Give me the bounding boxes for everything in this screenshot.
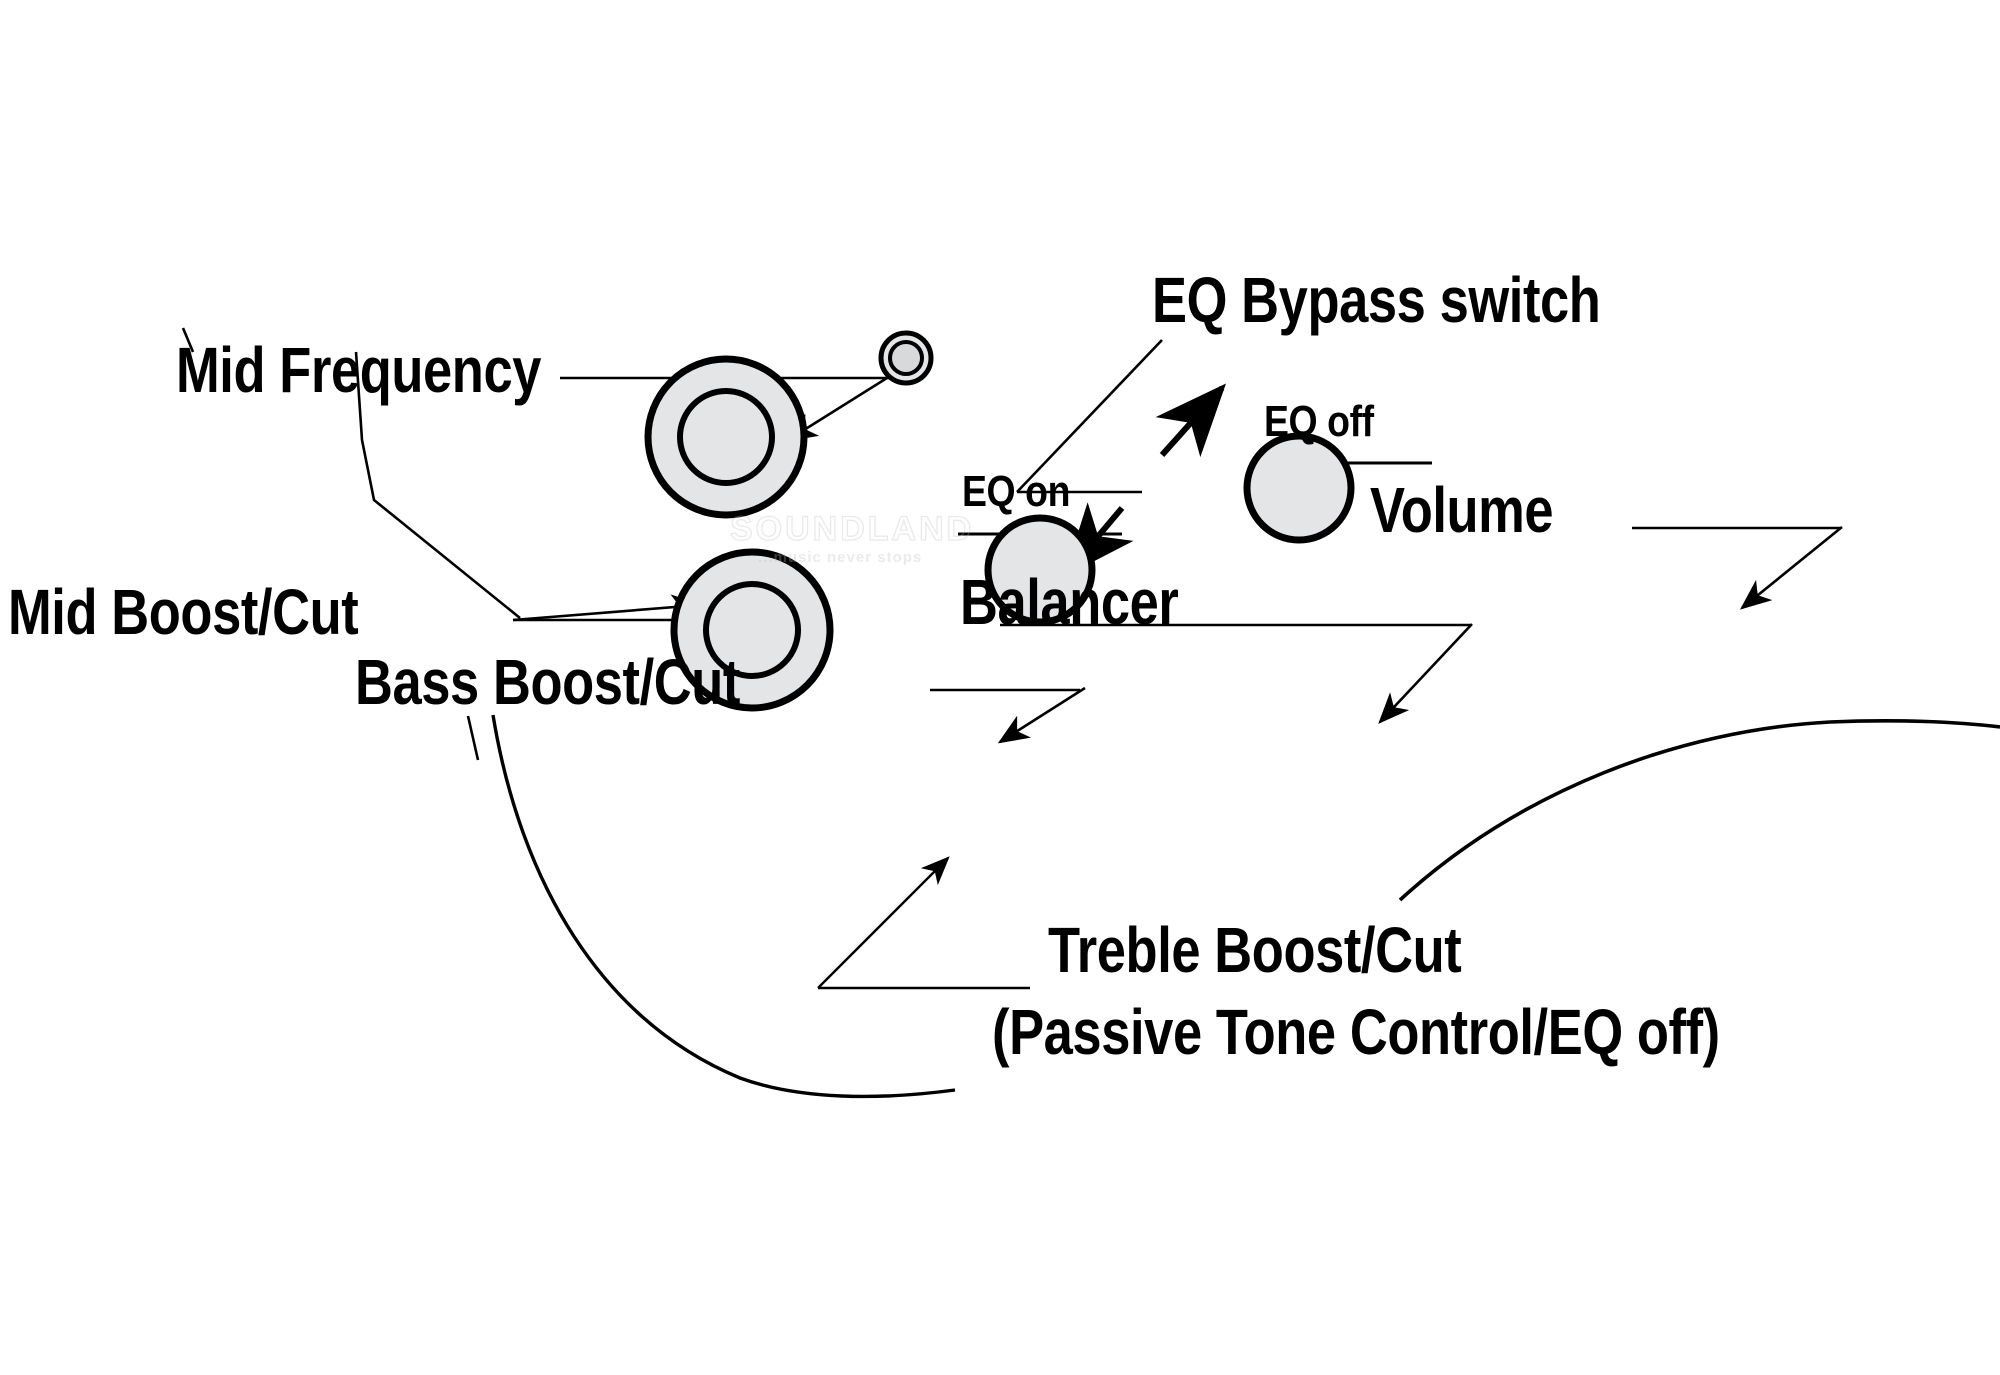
label-mid-boost-cut: Mid Boost/Cut — [8, 580, 358, 644]
label-eq-bypass-switch: EQ Bypass switch — [1152, 268, 1600, 332]
eq-bypass-switch[interactable] — [881, 333, 931, 383]
arrow-eq-off — [1162, 388, 1222, 455]
volume-knob[interactable] — [1247, 436, 1351, 540]
label-mid-frequency: Mid Frequency — [176, 338, 541, 402]
leader-balancer-arrow — [1380, 624, 1472, 722]
watermark-brand: SOUNDLAND — [730, 510, 974, 548]
label-bass-boost-cut: Bass Boost/Cut — [355, 650, 740, 714]
leader-treble-boost-cut-arrow — [818, 858, 948, 988]
label-balancer: Balancer — [960, 570, 1178, 634]
body-outline-left — [493, 715, 955, 1096]
leader-volume-arrow — [1742, 527, 1842, 608]
label-eq-off: EQ off — [1264, 400, 1374, 444]
label-treble-subtitle: (Passive Tone Control/EQ off) — [992, 1000, 1720, 1064]
label-eq-on: EQ on — [962, 470, 1070, 514]
body-outline-right — [1400, 721, 2000, 900]
diagram-vector-layer: SOUNDLAND ...music never stops — [0, 0, 2000, 1375]
watermark-tagline: ...music never stops — [758, 549, 922, 566]
leader-bass-boost-cut-stem — [468, 716, 478, 760]
label-volume: Volume — [1370, 478, 1553, 542]
watermark: SOUNDLAND ...music never stops — [730, 510, 974, 566]
label-treble-boost-cut: Treble Boost/Cut — [1048, 918, 1461, 982]
mid-knob[interactable] — [648, 359, 804, 515]
diagram-canvas: SOUNDLAND ...music never stops Mid Frequ… — [0, 0, 2000, 1375]
leader-bass-boost-cut-arrow — [1000, 688, 1085, 742]
